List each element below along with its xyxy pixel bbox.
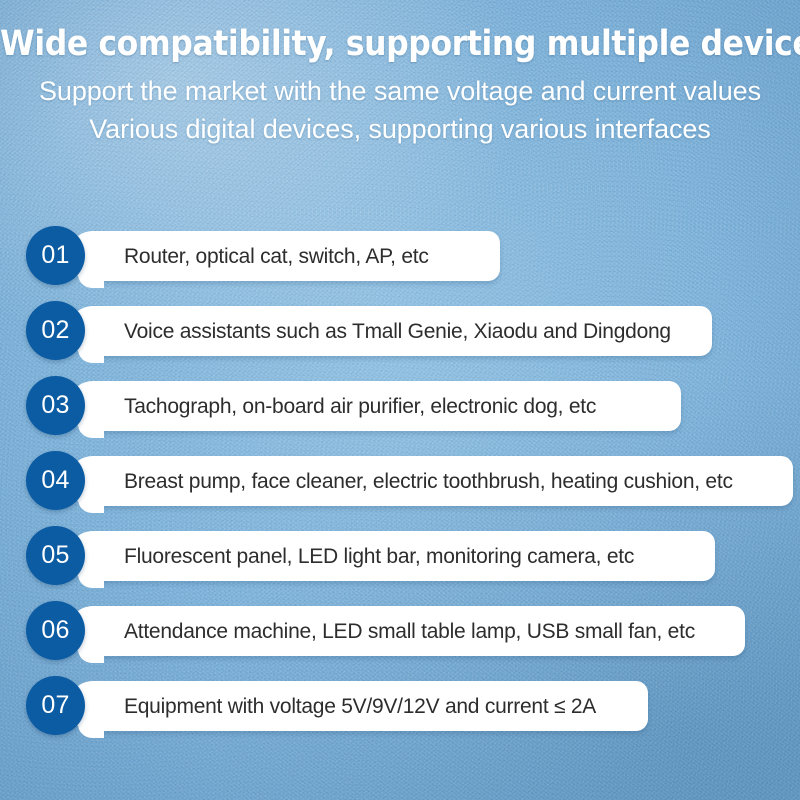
- item-number-badge: 02: [26, 301, 85, 360]
- device-label: Tachograph, on-board air purifier, elect…: [124, 396, 596, 417]
- list-item: Router, optical cat, switch, AP, etc01: [0, 220, 800, 295]
- item-number-badge: 01: [26, 226, 85, 285]
- list-item: Attendance machine, LED small table lamp…: [0, 595, 800, 670]
- list-item: Breast pump, face cleaner, electric toot…: [0, 445, 800, 520]
- device-bubble: Tachograph, on-board air purifier, elect…: [88, 381, 681, 431]
- header: Wide compatibility, supporting multiple …: [0, 0, 800, 148]
- item-number-label: 02: [41, 318, 69, 343]
- device-bubble: Breast pump, face cleaner, electric toot…: [88, 456, 793, 506]
- device-label: Equipment with voltage 5V/9V/12V and cur…: [124, 696, 596, 717]
- item-number-badge: 07: [26, 676, 85, 735]
- list-item: Voice assistants such as Tmall Genie, Xi…: [0, 295, 800, 370]
- list-item: Tachograph, on-board air purifier, elect…: [0, 370, 800, 445]
- item-number-label: 04: [41, 468, 69, 493]
- device-bubble: Router, optical cat, switch, AP, etc: [88, 231, 500, 281]
- item-number-label: 01: [41, 243, 69, 268]
- device-label: Fluorescent panel, LED light bar, monito…: [124, 546, 634, 567]
- device-bubble: Fluorescent panel, LED light bar, monito…: [88, 531, 715, 581]
- page-title: Wide compatibility, supporting multiple …: [0, 24, 800, 64]
- subtitle-line-1: Support the market with the same voltage…: [0, 64, 800, 110]
- list-item: Equipment with voltage 5V/9V/12V and cur…: [0, 670, 800, 745]
- item-number-label: 07: [41, 693, 69, 718]
- device-bubble: Voice assistants such as Tmall Genie, Xi…: [88, 306, 712, 356]
- item-number-badge: 05: [26, 526, 85, 585]
- subtitle-line-2: Various digital devices, supporting vari…: [0, 111, 800, 148]
- device-label: Router, optical cat, switch, AP, etc: [124, 246, 429, 267]
- item-number-label: 06: [41, 618, 69, 643]
- device-bubble: Attendance machine, LED small table lamp…: [88, 606, 745, 656]
- device-label: Breast pump, face cleaner, electric toot…: [124, 471, 733, 492]
- device-label: Voice assistants such as Tmall Genie, Xi…: [124, 321, 671, 342]
- device-bubble: Equipment with voltage 5V/9V/12V and cur…: [88, 681, 648, 731]
- device-list: Router, optical cat, switch, AP, etc01Vo…: [0, 220, 800, 745]
- list-item: Fluorescent panel, LED light bar, monito…: [0, 520, 800, 595]
- item-number-badge: 04: [26, 451, 85, 510]
- device-label: Attendance machine, LED small table lamp…: [124, 621, 695, 642]
- item-number-badge: 03: [26, 376, 85, 435]
- item-number-label: 05: [41, 543, 69, 568]
- poster-canvas: Wide compatibility, supporting multiple …: [0, 0, 800, 800]
- item-number-label: 03: [41, 393, 69, 418]
- item-number-badge: 06: [26, 601, 85, 660]
